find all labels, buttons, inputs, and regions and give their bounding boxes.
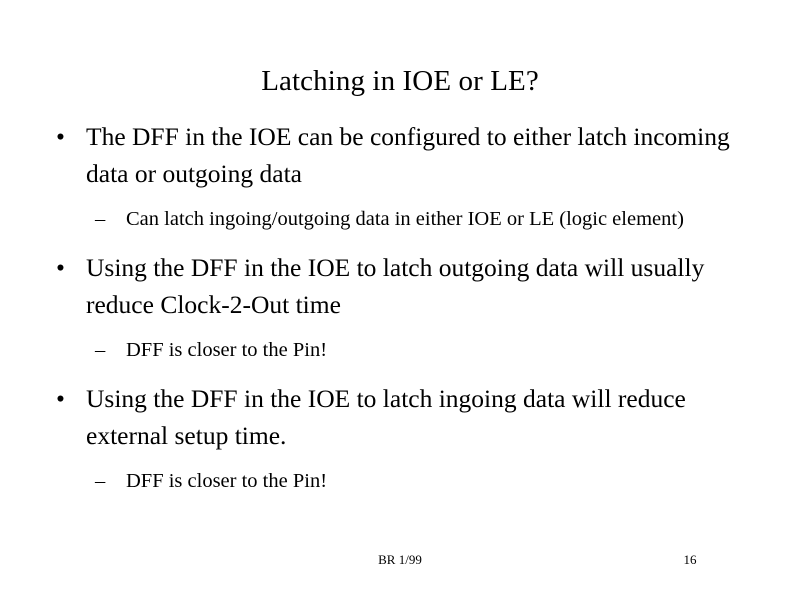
spacer xyxy=(50,327,760,335)
list-item: – Can latch ingoing/outgoing data in eit… xyxy=(50,204,760,235)
spacer xyxy=(50,458,760,466)
list-item-text: DFF is closer to the Pin! xyxy=(126,335,760,366)
page-title: Latching in IOE or LE? xyxy=(0,63,800,99)
spacer xyxy=(50,237,760,249)
spacer xyxy=(50,196,760,204)
spacer xyxy=(50,368,760,380)
list-item: • The DFF in the IOE can be configured t… xyxy=(50,118,760,192)
list-item: • Using the DFF in the IOE to latch outg… xyxy=(50,249,760,323)
list-item-text: DFF is closer to the Pin! xyxy=(126,466,760,497)
bullet-dash-icon: – xyxy=(95,335,105,366)
footer-page-number: 16 xyxy=(640,551,740,569)
bullet-dash-icon: – xyxy=(95,466,105,497)
bullet-dash-icon: – xyxy=(95,204,105,235)
list-item-text: Using the DFF in the IOE to latch outgoi… xyxy=(86,249,760,323)
list-item: – DFF is closer to the Pin! xyxy=(50,335,760,366)
list-item: • Using the DFF in the IOE to latch ingo… xyxy=(50,380,760,454)
bullet-dot-icon: • xyxy=(56,380,65,417)
slide-body: • The DFF in the IOE can be configured t… xyxy=(50,118,760,499)
bullet-dot-icon: • xyxy=(56,249,65,286)
list-item: – DFF is closer to the Pin! xyxy=(50,466,760,497)
bullet-dot-icon: • xyxy=(56,118,65,155)
list-item-text: Using the DFF in the IOE to latch ingoin… xyxy=(86,380,760,454)
list-item-text: The DFF in the IOE can be configured to … xyxy=(86,118,760,192)
list-item-text: Can latch ingoing/outgoing data in eithe… xyxy=(126,204,760,235)
presentation-slide: Latching in IOE or LE? • The DFF in the … xyxy=(0,0,800,600)
